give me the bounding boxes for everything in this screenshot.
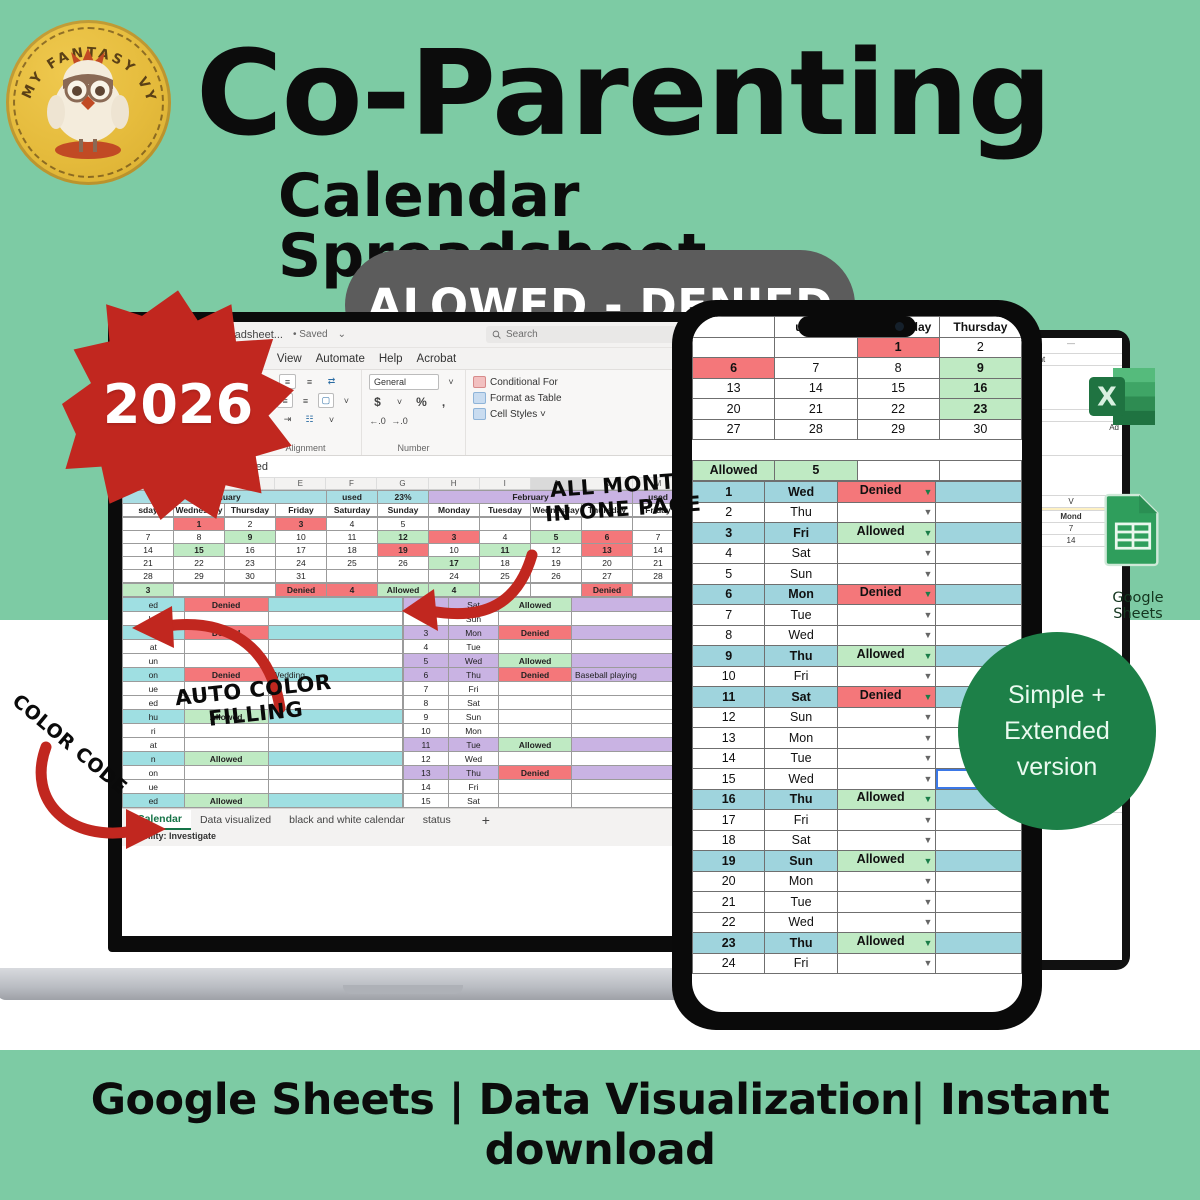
list-item[interactable]: 12Wed xyxy=(404,752,684,766)
tab-automate[interactable]: Automate xyxy=(316,353,365,365)
phone-calendar-cell[interactable]: 15 xyxy=(857,378,939,399)
list-note[interactable] xyxy=(268,780,402,794)
phone-calendar-week-row: 6789 xyxy=(693,358,1022,379)
phone-status-dropdown[interactable]: Allowed▼ xyxy=(837,789,936,810)
phone-calendar-week-row: 13141516 xyxy=(693,378,1022,399)
phone-weekday: Sat xyxy=(765,830,837,851)
phone-list-item[interactable]: 8Wed▼ xyxy=(693,625,1022,646)
number-decimal-row: ←.0 →.0 xyxy=(369,413,458,428)
list-note[interactable] xyxy=(571,640,683,654)
calendar-cell[interactable]: 16 xyxy=(225,544,276,557)
chevron-down-icon[interactable]: ▼ xyxy=(924,647,933,665)
google-sheets-icon xyxy=(1102,492,1164,568)
align-bottom-icon[interactable]: ≡ xyxy=(301,374,318,389)
phone-note[interactable] xyxy=(936,543,1022,564)
list-note[interactable]: Baseball playing xyxy=(571,668,683,682)
phone-list-item[interactable]: 1WedDenied▼ xyxy=(693,482,1022,503)
phone-status-dropdown[interactable]: ▼ xyxy=(837,543,936,564)
calendar-cell[interactable]: 15 xyxy=(174,544,225,557)
phone-weekday: Mon xyxy=(765,871,837,892)
phone-weekday: Fri xyxy=(765,953,837,974)
phone-day-number: 23 xyxy=(693,933,765,954)
phone-day-number: 9 xyxy=(693,646,765,667)
phone-day-number: 4 xyxy=(693,543,765,564)
phone-day-number: 13 xyxy=(693,728,765,749)
chevron-down-icon[interactable]: ▼ xyxy=(924,831,933,849)
calendar-cell[interactable]: 11 xyxy=(327,531,378,544)
list-status[interactable]: Allowed xyxy=(499,654,572,668)
phone-calendar-cell[interactable]: 14 xyxy=(775,378,857,399)
phone-calendar-cell[interactable]: 20 xyxy=(693,399,775,420)
phone-weekday: Sun xyxy=(765,564,837,585)
calendar-cell[interactable]: 17 xyxy=(276,544,327,557)
phone-calendar-cell[interactable]: 13 xyxy=(693,378,775,399)
sheet-tab-black-and-white-calendar[interactable]: black and white calendar xyxy=(280,811,414,829)
list-status[interactable] xyxy=(499,710,572,724)
phone-note[interactable] xyxy=(936,851,1022,872)
year-badge: 2026 xyxy=(62,288,294,520)
phone-status-dropdown[interactable]: ▼ xyxy=(837,605,936,626)
format-as-table-icon xyxy=(473,392,486,404)
phone-calendar-cell[interactable]: 21 xyxy=(775,399,857,420)
phone-status-dropdown[interactable]: Allowed▼ xyxy=(837,933,936,954)
list-note[interactable] xyxy=(571,724,683,738)
phone-note[interactable] xyxy=(936,482,1022,503)
phone-day-number: 7 xyxy=(693,605,765,626)
wrap-text-icon[interactable]: ▢ xyxy=(318,393,334,408)
chevron-down-icon[interactable]: ▼ xyxy=(924,872,933,890)
phone-list-item[interactable]: 23ThuAllowed▼ xyxy=(693,933,1022,954)
phone-calendar-table: uesdayWednesdayThursday12678913141516202… xyxy=(692,316,1022,481)
list-day-number: 5 xyxy=(404,654,449,668)
weekday-jan-4: Saturday xyxy=(327,504,378,517)
google-sheets-label: Google Sheets xyxy=(1086,590,1190,622)
chevron-down-icon[interactable]: ▼ xyxy=(924,626,933,644)
list-note[interactable] xyxy=(571,752,683,766)
chevron-down-icon[interactable]: ▼ xyxy=(924,606,933,624)
list-item[interactable]: 11TueAllowed xyxy=(404,738,684,752)
phone-calendar-cell[interactable]: 22 xyxy=(857,399,939,420)
list-status[interactable]: Allowed xyxy=(184,752,268,766)
calendar-cell[interactable]: 9 xyxy=(225,531,276,544)
merge-caret-icon[interactable]: ˅ xyxy=(323,412,340,427)
phone-status-dropdown[interactable]: ▼ xyxy=(837,953,936,974)
phone-day-number: 17 xyxy=(693,810,765,831)
phone-note[interactable] xyxy=(936,912,1022,933)
phone-status-dropdown[interactable]: ▼ xyxy=(837,564,936,585)
phone-status-dropdown[interactable]: ▼ xyxy=(837,830,936,851)
list-weekday: Mon xyxy=(448,724,498,738)
phone-day-number: 8 xyxy=(693,625,765,646)
chevron-down-icon[interactable]: ▼ xyxy=(924,934,933,952)
list-item[interactable]: 9Sun xyxy=(404,710,684,724)
list-status[interactable] xyxy=(499,794,572,808)
chevron-down-icon[interactable]: ▼ xyxy=(924,893,933,911)
chevron-down-icon[interactable]: ▼ xyxy=(924,565,933,583)
list-status[interactable]: Allowed xyxy=(184,794,268,808)
version-badge-text: Simple +Extendedversion xyxy=(1004,677,1110,786)
used-label-january: used xyxy=(327,491,378,504)
list-status[interactable] xyxy=(499,780,572,794)
calendar-cell[interactable]: 24 xyxy=(276,557,327,570)
search-box[interactable]: Search xyxy=(486,326,676,343)
phone-weekday: Fri xyxy=(765,666,837,687)
calendar-cell[interactable]: 25 xyxy=(327,557,378,570)
phone-list-item[interactable]: 9ThuAllowed▼ xyxy=(693,646,1022,667)
phone-status-dropdown[interactable]: ▼ xyxy=(837,892,936,913)
page-title: Co-Parenting xyxy=(196,34,1076,152)
phone-weekday: Sun xyxy=(765,851,837,872)
phone-status-dropdown[interactable]: Denied▼ xyxy=(837,687,936,708)
calendar-cell[interactable]: 12 xyxy=(378,531,429,544)
column-header-G[interactable]: G xyxy=(377,478,428,489)
phone-list-item[interactable]: 17Fri▼ xyxy=(693,810,1022,831)
chevron-down-icon[interactable]: ▼ xyxy=(924,811,933,829)
phone-status-dropdown[interactable]: Denied▼ xyxy=(837,482,936,503)
calendar-cell[interactable]: 18 xyxy=(327,544,378,557)
chevron-down-icon[interactable]: ▼ xyxy=(924,667,933,685)
phone-list-item[interactable]: 7Tue▼ xyxy=(693,605,1022,626)
phone-weekday: Sat xyxy=(765,543,837,564)
list-day-number: 13 xyxy=(404,766,449,780)
phone-summary-label: Allowed xyxy=(693,460,775,481)
phone-weekday: Tue xyxy=(765,892,837,913)
phone-note[interactable] xyxy=(936,605,1022,626)
poster-canvas: MY FANTASY VYNHI Co-Parenting Calendar S… xyxy=(0,0,1200,1200)
phone-calendar-cell[interactable]: 8 xyxy=(857,358,939,379)
list-item[interactable]: 13ThuDenied xyxy=(404,766,684,780)
phone-day-number: 21 xyxy=(693,892,765,913)
chevron-down-icon[interactable]: ▼ xyxy=(924,729,933,747)
phone-camera-icon xyxy=(895,322,904,331)
calendar-cell[interactable]: 4 xyxy=(480,531,531,544)
list-item[interactable]: 5WedAllowed xyxy=(404,654,684,668)
calendar-cell[interactable]: 29 xyxy=(174,570,225,583)
chevron-down-icon[interactable]: ▼ xyxy=(924,770,933,788)
calendar-cell[interactable]: 30 xyxy=(225,570,276,583)
phone-list-item[interactable]: 3FriAllowed▼ xyxy=(693,523,1022,544)
phone-status-dropdown[interactable]: ▼ xyxy=(837,728,936,749)
phone-day-number: 14 xyxy=(693,748,765,769)
phone-weekday: Wed xyxy=(765,769,837,790)
calendar-cell[interactable]: 28 xyxy=(123,570,174,583)
calendar-cell[interactable]: 4 xyxy=(327,518,378,531)
list-status[interactable] xyxy=(184,766,268,780)
year-badge-label: 2026 xyxy=(62,288,294,520)
chick-bird-icon xyxy=(38,46,138,164)
phone-status-dropdown[interactable]: Allowed▼ xyxy=(837,646,936,667)
phone-calendar-cell[interactable] xyxy=(693,337,775,358)
phone-weekday: Mon xyxy=(765,584,837,605)
right-summary-denied: Denied xyxy=(582,584,633,597)
phone-weekday: Wed xyxy=(765,625,837,646)
list-note[interactable] xyxy=(571,654,683,668)
list-status[interactable]: Denied xyxy=(499,766,572,780)
phone-weekday: Tue xyxy=(765,605,837,626)
phone-status-dropdown[interactable]: Allowed▼ xyxy=(837,523,936,544)
list-day-number: 9 xyxy=(404,710,449,724)
phone-status-dropdown[interactable]: Denied▼ xyxy=(837,584,936,605)
list-note[interactable] xyxy=(268,724,402,738)
phone-screen: uesdayWednesdayThursday12678913141516202… xyxy=(692,316,1022,1012)
phone-day-number: 18 xyxy=(693,830,765,851)
phone-status-dropdown[interactable]: ▼ xyxy=(837,912,936,933)
phone-note[interactable] xyxy=(936,892,1022,913)
calendar-cell[interactable]: 5 xyxy=(378,518,429,531)
list-day-number: 6 xyxy=(404,668,449,682)
phone-calendar-cell[interactable]: 28 xyxy=(775,419,857,440)
calendar-cell[interactable]: 5 xyxy=(531,531,582,544)
list-note[interactable] xyxy=(571,738,683,752)
chevron-down-icon[interactable]: ▼ xyxy=(924,749,933,767)
list-note[interactable] xyxy=(571,682,683,696)
orientation-icon[interactable]: ⇄ xyxy=(323,374,340,389)
percent-icon[interactable]: % xyxy=(413,394,430,409)
calendar-cell[interactable]: 14 xyxy=(123,544,174,557)
phone-status-dropdown[interactable]: Allowed▼ xyxy=(837,851,936,872)
phone-list-item[interactable]: 20Mon▼ xyxy=(693,871,1022,892)
phone-day-number: 11 xyxy=(693,687,765,708)
phone-note[interactable] xyxy=(936,953,1022,974)
calendar-cell[interactable]: 21 xyxy=(123,557,174,570)
tab-help[interactable]: Help xyxy=(379,353,403,365)
calendar-cell[interactable]: 3 xyxy=(429,531,480,544)
number-format-caret-icon[interactable]: ˅ xyxy=(444,375,458,390)
phone-calendar-cell[interactable]: 7 xyxy=(775,358,857,379)
sheet-tab-bar: Calendar Data visualized black and white… xyxy=(122,808,684,830)
phone-list-item[interactable]: 16ThuAllowed▼ xyxy=(693,789,1022,810)
list-item[interactable]: 6ThuDeniedBaseball playing xyxy=(404,668,684,682)
chevron-down-icon[interactable]: ▼ xyxy=(924,790,933,808)
phone-status-dropdown[interactable]: ▼ xyxy=(837,871,936,892)
phone-calendar-cell[interactable]: 2 xyxy=(939,337,1021,358)
phone-day-number: 16 xyxy=(693,789,765,810)
list-note[interactable] xyxy=(268,794,402,808)
tab-acrobat[interactable]: Acrobat xyxy=(417,353,457,365)
phone-list-item[interactable]: 18Sat▼ xyxy=(693,830,1022,851)
phone-weekday: Fri xyxy=(765,523,837,544)
merge-cells-icon[interactable]: ☷ xyxy=(301,412,318,427)
phone-calendar-cell[interactable]: 30 xyxy=(939,419,1021,440)
list-note[interactable] xyxy=(571,710,683,724)
column-header-F[interactable]: F xyxy=(326,478,377,489)
column-header-I[interactable]: I xyxy=(480,478,531,489)
laptop-base-notch xyxy=(343,985,463,994)
list-note[interactable] xyxy=(268,738,402,752)
phone-list-item[interactable]: 5Sun▼ xyxy=(693,564,1022,585)
align-right-icon[interactable]: ≡ xyxy=(298,393,313,408)
phone-calendar-cell[interactable]: 9 xyxy=(939,358,1021,379)
chevron-down-icon[interactable]: ▼ xyxy=(924,954,933,972)
phone-day-number: 20 xyxy=(693,871,765,892)
version-badge: Simple +Extendedversion xyxy=(958,632,1156,830)
phone-status-dropdown[interactable]: ▼ xyxy=(837,502,936,523)
arrow-color-code-icon xyxy=(30,735,170,855)
chevron-down-icon[interactable]: ▼ xyxy=(924,585,933,603)
calendar-cell[interactable]: 31 xyxy=(276,570,327,583)
calendar-cell[interactable]: 20 xyxy=(582,557,633,570)
list-note[interactable] xyxy=(268,752,402,766)
chevron-down-icon[interactable]: ▼ xyxy=(924,708,933,726)
wrap-caret-icon[interactable]: ˅ xyxy=(339,393,354,408)
calendar-cell[interactable]: 8 xyxy=(174,531,225,544)
phone-note[interactable] xyxy=(936,564,1022,585)
phone-dynamic-island xyxy=(798,316,916,337)
phone-calendar-cell[interactable]: 27 xyxy=(693,419,775,440)
list-note[interactable] xyxy=(571,766,683,780)
weekday-jan-5: Sunday xyxy=(378,504,429,517)
comma-style-icon[interactable]: , xyxy=(435,394,452,409)
cell-styles-button[interactable]: Cell Styles ˅ xyxy=(473,408,589,420)
currency-icon[interactable]: $ xyxy=(369,394,386,409)
increase-decimal-icon[interactable]: ←.0 xyxy=(369,413,386,428)
calendar-cell[interactable]: 13 xyxy=(582,544,633,557)
list-weekday: Sat xyxy=(448,794,498,808)
status-bar: ssibility: Investigate xyxy=(122,830,684,846)
phone-list-item[interactable]: 19SunAllowed▼ xyxy=(693,851,1022,872)
add-sheet-icon[interactable]: + xyxy=(460,809,499,831)
chevron-down-icon[interactable]: ▼ xyxy=(924,524,933,542)
conditional-formatting-label: Conditional For xyxy=(490,377,558,388)
list-note[interactable] xyxy=(571,612,683,626)
calendar-cell[interactable]: 6 xyxy=(582,531,633,544)
search-placeholder: Search xyxy=(506,329,538,340)
phone-calendar-cell[interactable]: 6 xyxy=(693,358,775,379)
phone-note[interactable] xyxy=(936,830,1022,851)
list-status[interactable]: Allowed xyxy=(499,738,572,752)
chevron-down-icon[interactable]: ▼ xyxy=(924,852,933,870)
list-day-number: 15 xyxy=(404,794,449,808)
list-status[interactable] xyxy=(184,738,268,752)
format-as-table-label: Format as Table xyxy=(490,393,562,404)
calendar-cell[interactable] xyxy=(327,570,378,583)
calendar-cell[interactable]: 7 xyxy=(123,531,174,544)
list-note[interactable] xyxy=(571,780,683,794)
list-note[interactable] xyxy=(268,766,402,780)
phone-day-number: 2 xyxy=(693,502,765,523)
list-day-number: 10 xyxy=(404,724,449,738)
phone-list-item[interactable]: 24Fri▼ xyxy=(693,953,1022,974)
chevron-down-icon[interactable]: ▼ xyxy=(924,688,933,706)
sheet-tab-status[interactable]: status xyxy=(414,811,460,829)
list-item[interactable]: 14Fri xyxy=(404,780,684,794)
phone-status-dropdown[interactable]: ▼ xyxy=(837,625,936,646)
list-note[interactable] xyxy=(571,696,683,710)
phone-note[interactable] xyxy=(936,933,1022,954)
calendar-cell[interactable]: 10 xyxy=(276,531,327,544)
list-status[interactable] xyxy=(499,696,572,710)
phone-list-item[interactable]: 21Tue▼ xyxy=(693,892,1022,913)
chevron-down-icon[interactable]: ▼ xyxy=(924,503,933,521)
column-header-H[interactable]: H xyxy=(429,478,480,489)
calendar-week-row: 78910111234567 xyxy=(123,531,684,544)
calendar-cell[interactable]: 22 xyxy=(174,557,225,570)
phone-status-dropdown[interactable]: ▼ xyxy=(837,748,936,769)
phone-note[interactable] xyxy=(936,502,1022,523)
list-weekday: Wed xyxy=(448,654,498,668)
phone-day-number: 22 xyxy=(693,912,765,933)
weekday-feb-1: Tuesday xyxy=(480,504,531,517)
phone-status-dropdown[interactable]: ▼ xyxy=(837,769,936,790)
phone-weekday: Thu xyxy=(765,502,837,523)
phone-status-dropdown[interactable]: ▼ xyxy=(837,707,936,728)
list-weekday: Thu xyxy=(448,766,498,780)
phone-list-item[interactable]: 4Sat▼ xyxy=(693,543,1022,564)
phone-day-number: 1 xyxy=(693,482,765,503)
chevron-down-icon[interactable]: ▼ xyxy=(924,544,933,562)
phone-note[interactable] xyxy=(936,871,1022,892)
left-summary-count: 3 xyxy=(123,584,174,597)
phone-weekday: Wed xyxy=(765,482,837,503)
phone-list-item[interactable]: 22Wed▼ xyxy=(693,912,1022,933)
phone-day-number: 5 xyxy=(693,564,765,585)
list-item[interactable]: 7Fri xyxy=(404,682,684,696)
calendar-cell[interactable]: 27 xyxy=(582,570,633,583)
chevron-down-icon[interactable]: ▼ xyxy=(924,483,933,501)
phone-status-dropdown[interactable]: ▼ xyxy=(837,810,936,831)
list-status[interactable] xyxy=(184,780,268,794)
phone-note[interactable] xyxy=(936,523,1022,544)
list-note[interactable] xyxy=(571,626,683,640)
phone-list-item[interactable]: 6MonDenied▼ xyxy=(693,584,1022,605)
list-status[interactable] xyxy=(499,724,572,738)
list-item[interactable]: 10Mon xyxy=(404,724,684,738)
calendar-cell[interactable] xyxy=(429,518,480,531)
phone-list-item[interactable]: 2Thu▼ xyxy=(693,502,1022,523)
phone-calendar-week-row: 12 xyxy=(693,337,1022,358)
conditional-formatting-button[interactable]: Conditional For xyxy=(473,376,589,388)
phone-status-dropdown[interactable]: ▼ xyxy=(837,666,936,687)
phone-calendar-cell[interactable] xyxy=(775,337,857,358)
currency-caret-icon[interactable]: ˅ xyxy=(391,394,408,409)
phone-weekday: Fri xyxy=(765,810,837,831)
phone-calendar-week-row: 20212223 xyxy=(693,399,1022,420)
phone-calendar-cell[interactable]: 1 xyxy=(857,337,939,358)
phone-calendar-cell[interactable]: 16 xyxy=(939,378,1021,399)
list-weekday: Thu xyxy=(448,668,498,682)
phone-weekday: Thu xyxy=(765,933,837,954)
calendar-cell[interactable]: 23 xyxy=(225,557,276,570)
list-note[interactable] xyxy=(571,598,683,612)
list-note[interactable] xyxy=(571,794,683,808)
arrow-to-february-icon xyxy=(400,545,550,655)
list-item[interactable]: 15Sat xyxy=(404,794,684,808)
search-icon xyxy=(492,330,501,339)
list-status[interactable] xyxy=(499,682,572,696)
phone-calendar-week-row: 27282930 xyxy=(693,419,1022,440)
phone-weekday: Thu xyxy=(765,646,837,667)
list-status[interactable]: Denied xyxy=(499,668,572,682)
number-format-select[interactable]: General xyxy=(369,374,439,390)
phone-note[interactable] xyxy=(936,625,1022,646)
brand-logo: MY FANTASY VYNHI xyxy=(6,20,171,185)
saved-caret-icon[interactable]: ⌄ xyxy=(338,329,346,340)
chevron-down-icon[interactable]: ▼ xyxy=(924,913,933,931)
sheet-tab-data-visualized[interactable]: Data visualized xyxy=(191,811,280,829)
list-status[interactable] xyxy=(499,752,572,766)
decrease-decimal-icon[interactable]: →.0 xyxy=(391,413,408,428)
list-item[interactable]: 8Sat xyxy=(404,696,684,710)
phone-day-number: 10 xyxy=(693,666,765,687)
phone-note[interactable] xyxy=(936,584,1022,605)
phone-weekday: Thu xyxy=(765,789,837,810)
phone-calendar-cell[interactable]: 29 xyxy=(857,419,939,440)
phone-calendar-cell[interactable]: 23 xyxy=(939,399,1021,420)
list-weekday: Fri xyxy=(448,780,498,794)
calendar-cell[interactable] xyxy=(480,518,531,531)
format-as-table-button[interactable]: Format as Table xyxy=(473,392,589,404)
phone-day-number: 15 xyxy=(693,769,765,790)
